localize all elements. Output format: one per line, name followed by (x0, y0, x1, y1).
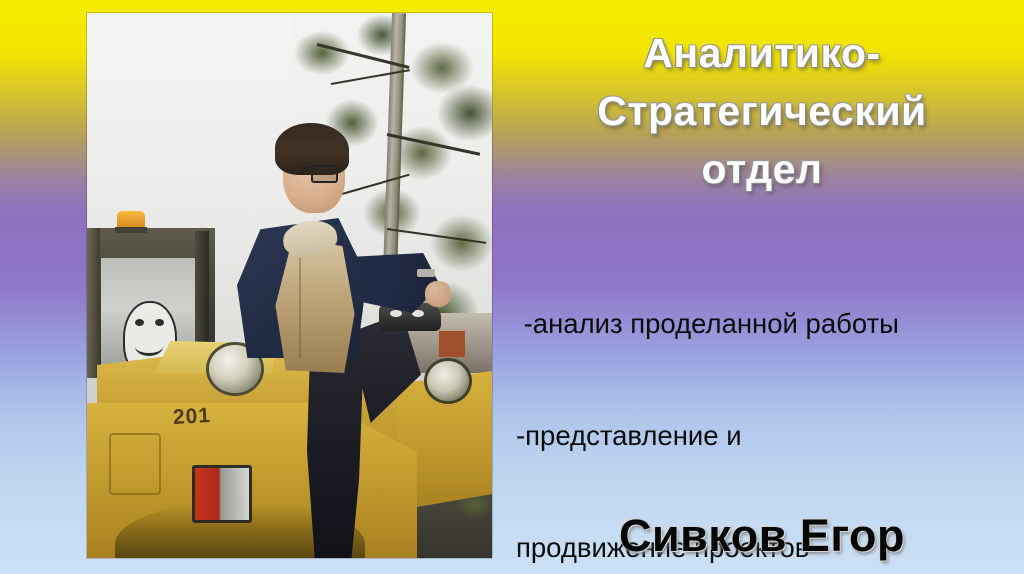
photo-person-vest-seam (299, 258, 301, 358)
photo-roller-beacon-base (115, 227, 147, 233)
photo-roller-taillight (192, 465, 252, 523)
slide-author-name: Сивков Егор (500, 510, 1024, 562)
photo-roller-access-panel (109, 433, 161, 495)
slide-title-line: Аналитико- (500, 24, 1024, 82)
slide-title-line: Стратегический (500, 82, 1024, 140)
photo-person-watch (417, 269, 435, 277)
photo-roller-headlamp (427, 361, 469, 401)
photo-person-glasses (311, 165, 338, 183)
slide-text-column: Аналитико- Стратегический отдел -анализ … (500, 0, 1024, 574)
slide-body-line: -анализ проделанной работы (516, 305, 1024, 342)
slide-title: Аналитико- Стратегический отдел (500, 24, 1024, 199)
slide-photo: 201 (87, 13, 492, 558)
photo-window-sticker-mouth (135, 337, 163, 356)
photo-window-sticker-eye (135, 319, 144, 326)
photo-person-hand (425, 281, 451, 307)
photo-person-shoe-detail (390, 310, 402, 317)
photo-roller-number: 201 (172, 404, 211, 430)
slide-body-line: -представление и (516, 417, 1024, 454)
photo-window-sticker-eye (155, 319, 164, 326)
photo-background-building-accent (439, 331, 465, 357)
slide-title-line: отдел (500, 140, 1024, 198)
presentation-slide: 201 Аналитико- Стратегический отдел -ана… (0, 0, 1024, 574)
photo-roller-cab-post (87, 228, 100, 378)
